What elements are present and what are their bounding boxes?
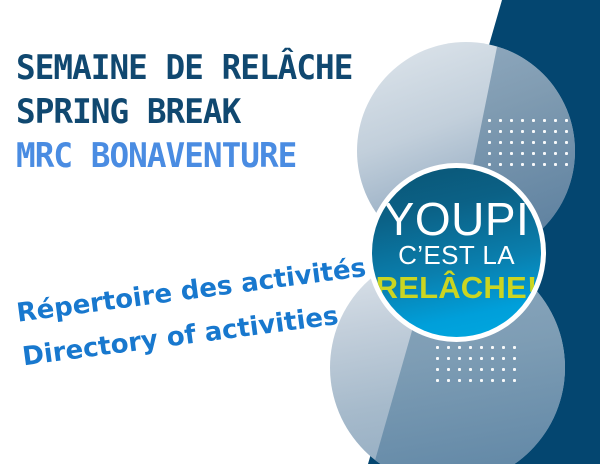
headline-line-fr: SEMAINE DE RELÂCHE	[16, 46, 400, 90]
poster-canvas: SEMAINE DE RELÂCHE SPRING BREAK MRC BONA…	[0, 0, 600, 464]
badge-word-cest-la: C’EST LA	[398, 242, 515, 269]
headline-line-en: SPRING BREAK	[16, 90, 400, 134]
badge-word-relache: RELÂCHE!	[376, 272, 538, 303]
headline-line-region: MRC BONAVENTURE	[16, 134, 400, 178]
youpi-badge: YOUPI C’EST LA RELÂCHE!	[372, 168, 541, 337]
badge-word-youpi: YOUPI	[384, 198, 530, 240]
dot-grid-lower-icon	[430, 340, 520, 386]
dot-grid-upper-icon	[482, 113, 572, 170]
headline-block: SEMAINE DE RELÂCHE SPRING BREAK MRC BONA…	[16, 46, 416, 178]
